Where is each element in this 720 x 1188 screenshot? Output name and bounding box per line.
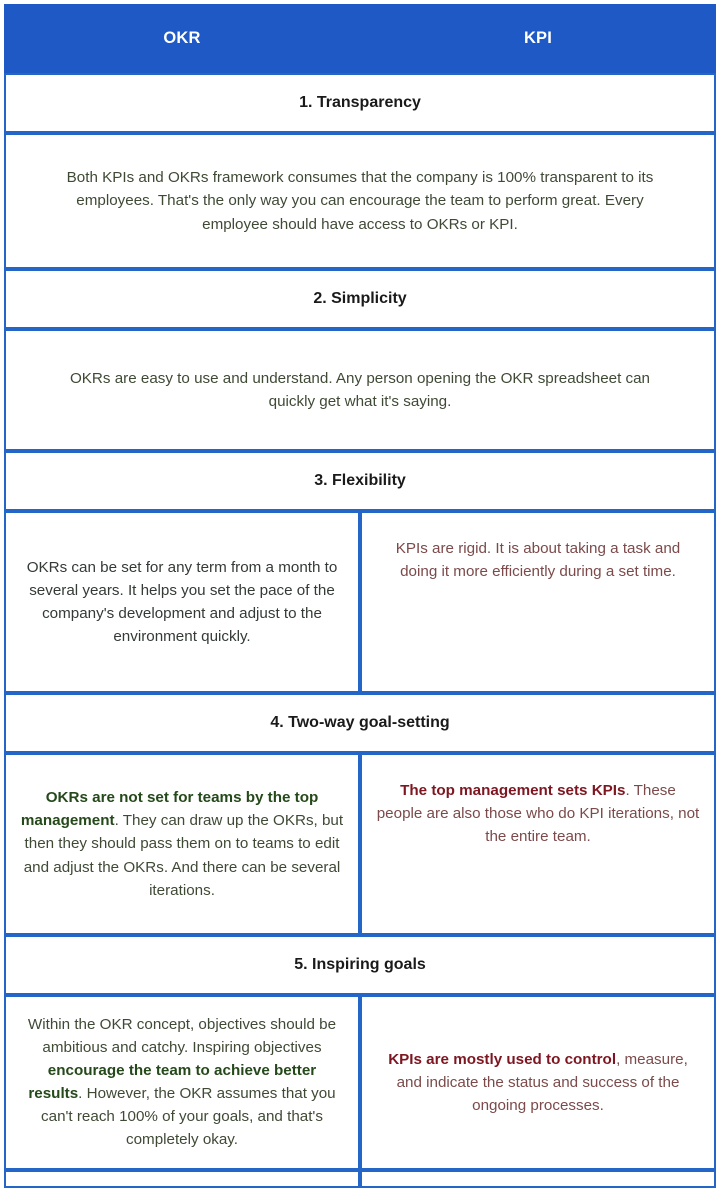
section-body-row-4: OKRs are not set for teams by the top ma… [4, 753, 716, 935]
header-label-okr: OKR [163, 29, 200, 47]
section-4-okr-cell: OKRs are not set for teams by the top ma… [4, 753, 360, 935]
body-text-simplicity: OKRs are easy to use and understand. Any… [20, 367, 700, 413]
section-body-cell-1: Both KPIs and OKRs framework consumes th… [4, 133, 716, 269]
section-5-okr-cell: Within the OKR concept, objectives shoul… [4, 995, 360, 1170]
section-body-row-2: OKRs are easy to use and understand. Any… [4, 329, 716, 451]
section-4-kpi-cell: The top management sets KPIs. These peop… [360, 753, 716, 935]
okr-kpi-comparison-table-wrapper: OKR KPI 1. Transparency Both KPIs and OK… [4, 4, 716, 1188]
section-body-row-3: OKRs can be set for any term from a mont… [4, 511, 716, 693]
section-title-row-3: 3. Flexibility [4, 451, 716, 511]
filler-cell-left [4, 1170, 360, 1188]
body-text-goal-setting-okr: OKRs are not set for teams by the top ma… [20, 786, 344, 901]
section-title-inspiring-goals: 5. Inspiring goals [294, 956, 426, 973]
section-title-row-1: 1. Transparency [4, 73, 716, 133]
section-body-row-5: Within the OKR concept, objectives shoul… [4, 995, 716, 1170]
section-title-cell-3: 3. Flexibility [4, 451, 716, 511]
section-body-cell-2: OKRs are easy to use and understand. Any… [4, 329, 716, 451]
section-body-row-1: Both KPIs and OKRs framework consumes th… [4, 133, 716, 269]
body-text-goal-setting-kpi: The top management sets KPIs. These peop… [376, 779, 700, 848]
section-title-cell-4: 4. Two-way goal-setting [4, 693, 716, 753]
body-text-flexibility-kpi: KPIs are rigid. It is about taking a tas… [376, 537, 700, 583]
section-title-transparency: 1. Transparency [299, 94, 421, 111]
section-title-two-way-goal-setting: 4. Two-way goal-setting [270, 714, 449, 731]
header-cell-kpi: KPI [360, 4, 716, 73]
section-title-cell-2: 2. Simplicity [4, 269, 716, 329]
body-text-inspiring-kpi: KPIs are mostly used to control, measure… [376, 1048, 700, 1117]
section-title-cell-5: 5. Inspiring goals [4, 935, 716, 995]
section-5-kpi-cell: KPIs are mostly used to control, measure… [360, 995, 716, 1170]
body-lead-goal-setting-kpi: The top management sets KPIs [400, 782, 625, 799]
body-text-flexibility-okr: OKRs can be set for any term from a mont… [20, 556, 344, 648]
section-3-okr-cell: OKRs can be set for any term from a mont… [4, 511, 360, 693]
section-title-row-4: 4. Two-way goal-setting [4, 693, 716, 753]
body-text-inspiring-okr: Within the OKR concept, objectives shoul… [20, 1013, 344, 1152]
body-rest-inspiring-okr: . However, the OKR assumes that you can'… [41, 1085, 336, 1148]
section-title-cell-1: 1. Transparency [4, 73, 716, 133]
section-title-simplicity: 2. Simplicity [313, 290, 406, 307]
body-pre-inspiring-okr: Within the OKR concept, objectives shoul… [28, 1016, 336, 1056]
table-header-row: OKR KPI [4, 4, 716, 73]
section-title-flexibility: 3. Flexibility [314, 472, 406, 489]
body-lead-inspiring-kpi: KPIs are mostly used to control [388, 1051, 616, 1068]
filler-cell-right [360, 1170, 716, 1188]
header-label-kpi: KPI [524, 29, 552, 47]
section-title-row-2: 2. Simplicity [4, 269, 716, 329]
table-filler-row [4, 1170, 716, 1188]
section-3-kpi-cell: KPIs are rigid. It is about taking a tas… [360, 511, 716, 693]
okr-kpi-comparison-table: OKR KPI 1. Transparency Both KPIs and OK… [4, 4, 716, 1188]
body-text-transparency: Both KPIs and OKRs framework consumes th… [20, 166, 700, 235]
header-cell-okr: OKR [4, 4, 360, 73]
section-title-row-5: 5. Inspiring goals [4, 935, 716, 995]
